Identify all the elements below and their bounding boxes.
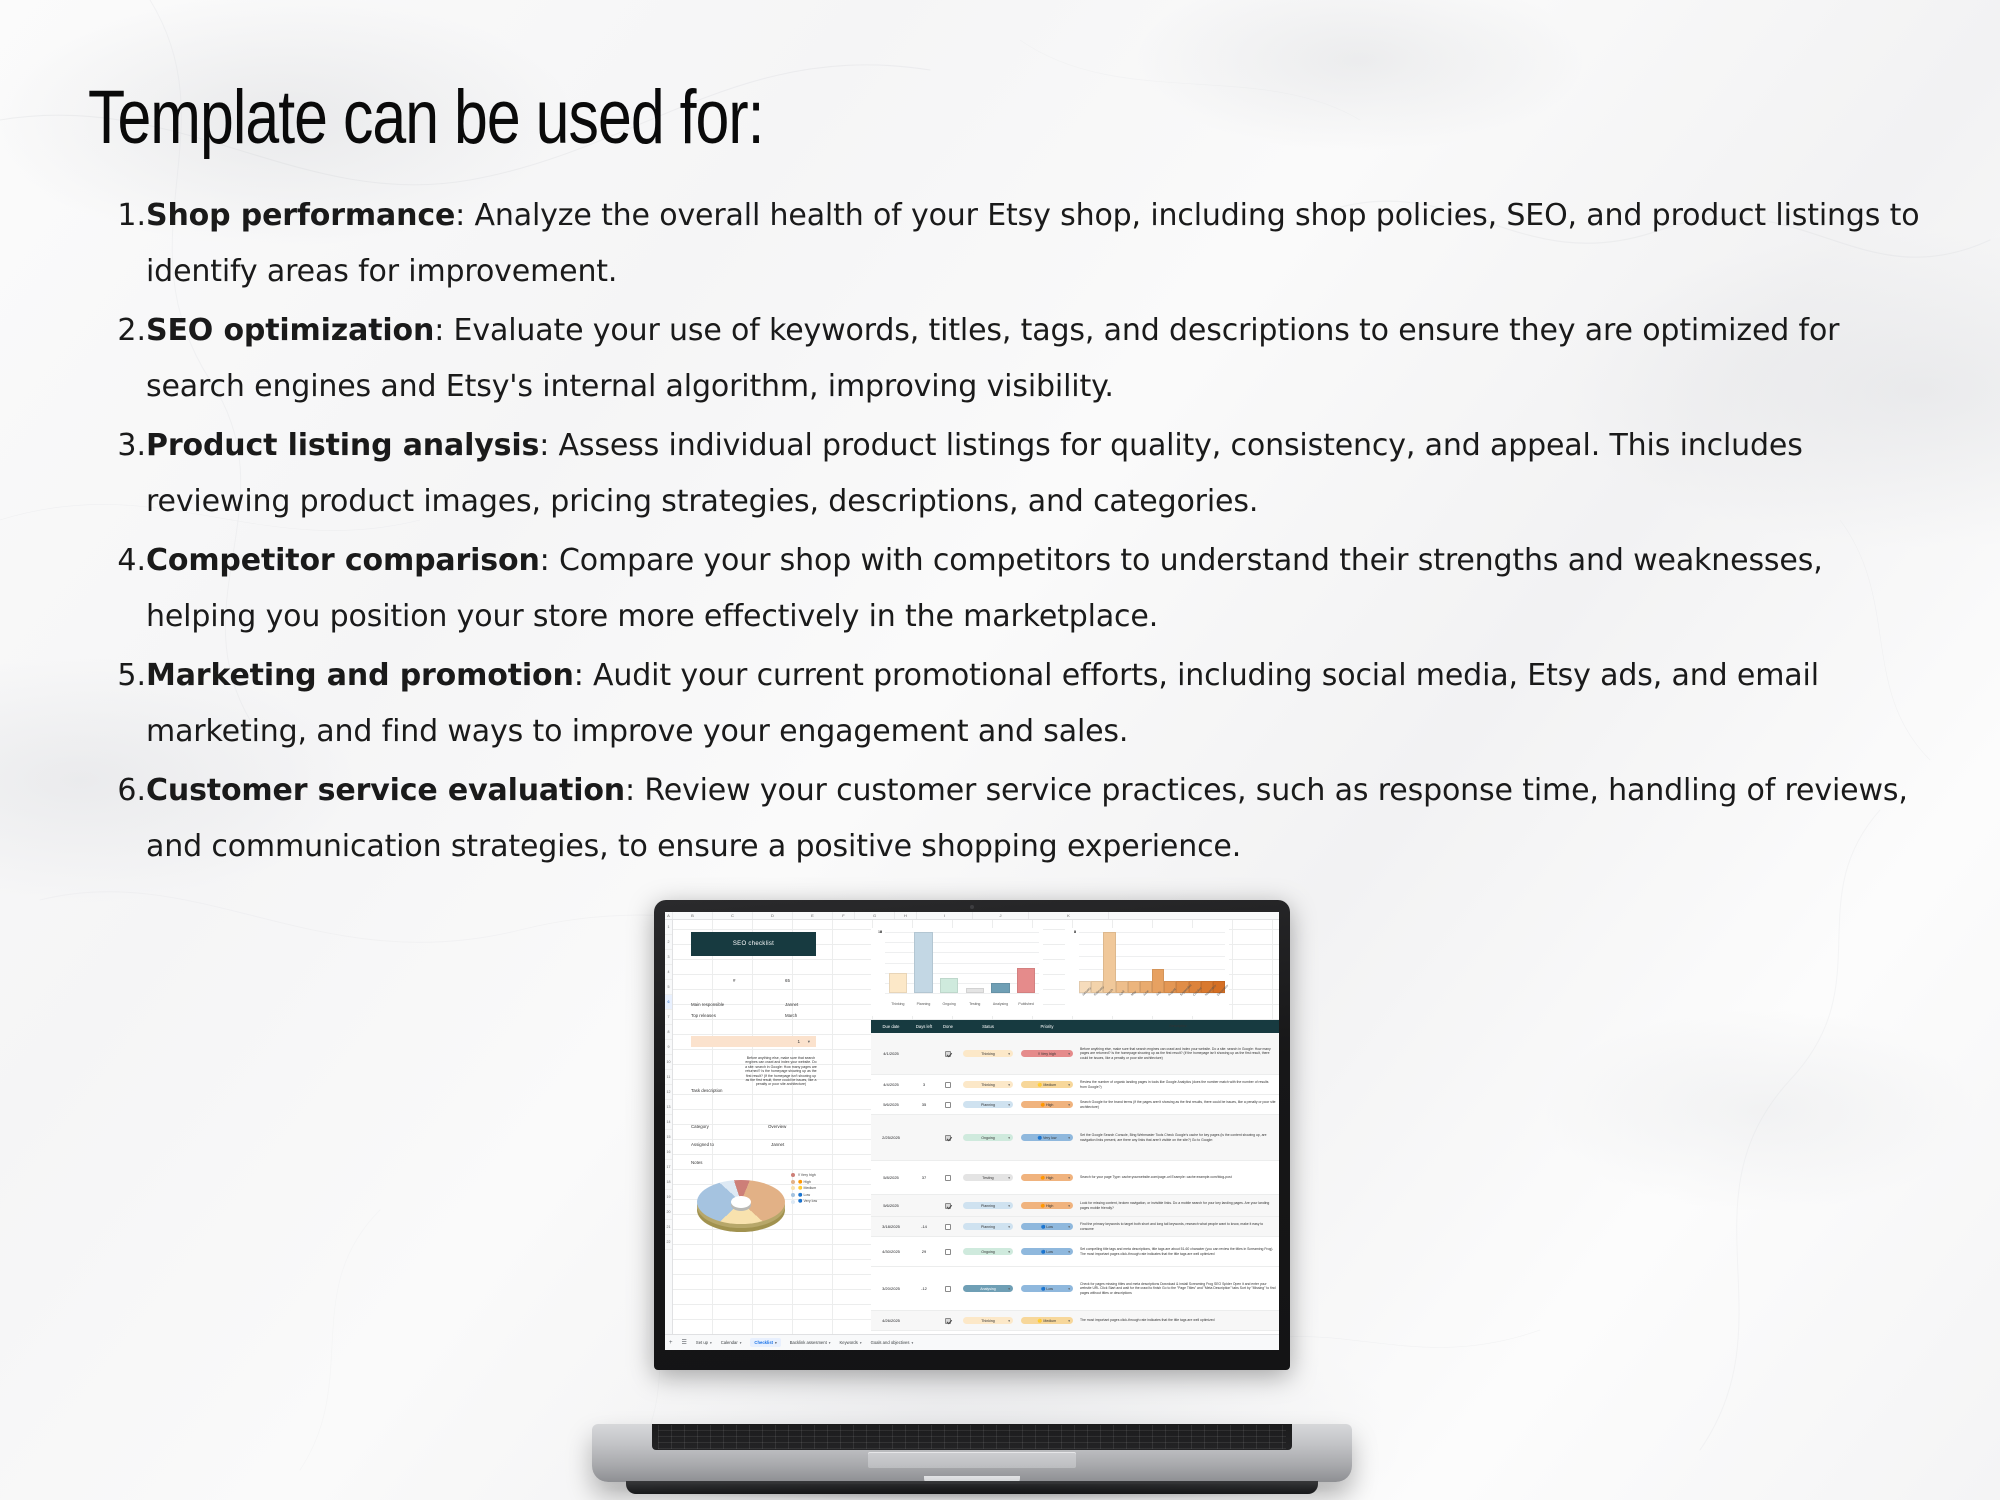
row-number-20[interactable]: 20 [665,1205,672,1220]
chevron-down-icon[interactable]: ▾ [710,1341,712,1345]
cell-status: Ongoing▾ [959,1248,1017,1255]
priority-badge[interactable]: 🟠 High▾ [1021,1174,1073,1181]
list-item-number: 6. [104,763,146,819]
legend-item-low: 🔵 Low [791,1192,817,1199]
done-checkbox[interactable] [945,1051,951,1057]
bar-published [1017,968,1035,993]
priority-badge[interactable]: 🟠 High▾ [1021,1202,1073,1209]
legend-item-very-low: 🔵 Very low [791,1198,817,1205]
priority-badge[interactable]: ‼ Very high▾ [1021,1050,1073,1057]
table-row[interactable]: 5/6/202535Planning▾🟠 High▾Search Google … [871,1095,1279,1115]
list-item-text: Competitor comparison: Compare your shop… [146,533,1938,645]
row-number-6[interactable]: 6 [665,995,672,1010]
row-number-17[interactable]: 17 [665,1160,672,1175]
row-number-21[interactable]: 21 [665,1220,672,1235]
field-label-top-releases: Top releases [691,1013,716,1018]
list-item: 3. Product listing analysis: Assess indi… [104,418,1938,530]
x-label-published: Published [1014,1002,1039,1006]
legend-swatch-icon [791,1180,795,1184]
bar-march [1103,932,1115,993]
list-item: 1. Shop performance: Analyze the overall… [104,188,1938,300]
legend-swatch-icon [791,1186,795,1190]
chevron-down-icon[interactable]: ▾ [1068,1250,1070,1254]
cell-description: Review the number of organic landing pag… [1077,1078,1279,1091]
list-item-lead: Shop performance [146,198,455,233]
detail-label-notes: Notes [691,1160,702,1165]
x-label-planning: Planning [911,1002,936,1006]
status-badge[interactable]: Analysing▾ [963,1285,1013,1292]
chevron-down-icon[interactable]: ▾ [1068,1052,1070,1056]
status-bar-chart: 121086420 ThinkingPlanningOngoingTesting… [871,928,1043,1016]
cell-status: Planning▾ [959,1101,1017,1108]
chevron-down-icon[interactable]: ▾ [911,1341,913,1345]
cell-due-date: 4/26/2025 [871,1318,911,1323]
list-item: 2. SEO optimization: Evaluate your use o… [104,303,1938,415]
chevron-down-icon[interactable]: ▾ [1008,1052,1010,1056]
bar-analysing [991,983,1009,993]
sheet-tab-set-up[interactable]: Set up▾ [696,1340,712,1345]
sheet-canvas: SEO checklist # 65 Main responsible Jann… [673,920,1279,1334]
donut-hole [731,1196,751,1208]
laptop-mockup: ABCDEFGHIJK 1234567891011121314151617181… [592,900,1352,1500]
sheet-tab-label: Goals and objectives [871,1340,910,1345]
done-checkbox[interactable] [945,1135,951,1141]
cell-priority: 🔵 Low▾ [1017,1285,1077,1292]
cell-description: Find the primary keywords to target both… [1077,1220,1279,1233]
list-item: 6. Customer service evaluation: Review y… [104,763,1938,875]
monthly-bar-chart: 543210 JanuaryFebruaryMarchAprilMayJuneJ… [1065,928,1229,1016]
y-tick-0: 0 [1074,930,1076,934]
chevron-down-icon[interactable]: ▾ [1008,1204,1010,1208]
row-number-12[interactable]: 12 [665,1085,672,1100]
bar-ongoing [940,978,958,993]
chevron-down-icon[interactable]: ▾ [1068,1225,1070,1229]
done-checkbox[interactable] [945,1102,951,1108]
legend-label: ‼ Very high [798,1172,816,1179]
done-checkbox[interactable] [945,1082,951,1088]
table-row[interactable]: 3/20/2025-12Analysing▾🔵 Low▾Check for pa… [871,1267,1279,1311]
status-badge[interactable]: Ongoing▾ [963,1134,1013,1141]
legend-swatch-icon [791,1200,795,1204]
cell-due-date: 5/6/2025 [871,1102,911,1107]
row-number-1[interactable]: 1 [665,920,672,935]
cell-done [937,1224,959,1230]
row-number-7[interactable]: 7 [665,1010,672,1025]
hash-value: 65 [785,978,790,983]
row-number-14[interactable]: 14 [665,1115,672,1130]
cell-status: Planning▾ [959,1202,1017,1209]
table-row[interactable]: 5/8/202537Testing▾🟠 High▾Search for your… [871,1161,1279,1195]
laptop-screen: ABCDEFGHIJK 1234567891011121314151617181… [665,912,1279,1350]
table-header-done[interactable]: Done [937,1024,959,1029]
row-number-13[interactable]: 13 [665,1100,672,1115]
cell-done [937,1175,959,1181]
row-number-4[interactable]: 4 [665,965,672,980]
detail-label-assigned-to: Assigned to [691,1142,714,1147]
cell-status: Testing▾ [959,1174,1017,1181]
column-header-j[interactable]: J [973,912,1029,919]
chevron-down-icon[interactable]: ▾ [1008,1136,1010,1140]
chevron-down-icon[interactable]: ▾ [1068,1319,1070,1323]
table-row[interactable]: 3/18/2025-14Planning▾🔵 Low▾Find the prim… [871,1217,1279,1237]
chevron-down-icon[interactable]: ▾ [1068,1176,1070,1180]
chevron-down-icon[interactable]: ▾ [740,1341,742,1345]
row-selector-number: 1 [797,1036,800,1047]
cell-description: The most important pages click-through r… [1077,1316,1279,1324]
cell-days-left: -12 [911,1286,937,1291]
legend-label: 🟠 High [798,1179,811,1186]
table-header-description[interactable]: Description [1077,1022,1279,1030]
list-item-text: SEO optimization: Evaluate your use of k… [146,303,1938,415]
all-sheets-icon[interactable]: ☰ [682,1339,687,1346]
priority-badge[interactable]: 🔵 Very low▾ [1021,1134,1073,1141]
cell-priority: 🔵 Low▾ [1017,1248,1077,1255]
field-label-main-responsible: Main responsible [691,1002,724,1007]
sheet-grid: 12345678910111213141516171819202122 SEO … [665,920,1279,1334]
donut-legend: ‼ Very high🟠 High🟡 Medium🔵 Low🔵 Very low [791,1172,817,1205]
list-item-lead: Product listing analysis [146,428,539,463]
laptop-lid: ABCDEFGHIJK 1234567891011121314151617181… [654,900,1290,1370]
cell-status: Planning▾ [959,1223,1017,1230]
status-badge[interactable]: Planning▾ [963,1223,1013,1230]
list-item-lead: Competitor comparison [146,543,540,578]
x-label-thinking: Thinking [886,1002,911,1006]
webcam-icon [970,905,974,909]
chevron-down-icon[interactable]: ▾ [1068,1083,1070,1087]
cell-description: Before anything else, make sure that sea… [1077,1045,1279,1062]
cell-priority: ‼ Very high▾ [1017,1050,1077,1057]
cell-days-left: 35 [911,1102,937,1107]
laptop-base [592,1424,1352,1482]
row-number-8[interactable]: 8 [665,1025,672,1040]
bar-thinking [889,973,907,993]
cell-done [937,1082,959,1088]
list-item-number: 1. [104,188,146,244]
chevron-down-icon[interactable]: ▾ [1008,1176,1010,1180]
task-table: Due dateDays leftDoneStatusPriorityDescr… [871,1020,1279,1334]
done-checkbox[interactable] [945,1318,951,1324]
sheet-title-cell: SEO checklist [691,932,816,956]
cell-done [937,1102,959,1108]
cell-priority: 🟡 Medium▾ [1017,1317,1077,1324]
cell-due-date: 3/18/2025 [871,1224,911,1229]
legend-item-very-high: ‼ Very high [791,1172,817,1179]
cell-status: Ongoing▾ [959,1134,1017,1141]
detail-value-category: Overview [768,1124,786,1129]
bar-testing [966,988,984,993]
cell-priority: 🟠 High▾ [1017,1174,1077,1181]
sheet-tab-label: Calendar [721,1340,738,1345]
row-number-10[interactable]: 10 [665,1055,672,1070]
chevron-down-icon[interactable]: ▾ [1008,1225,1010,1229]
cell-description: Set compelling title tags and meta descr… [1077,1245,1279,1258]
cell-description: Search for your page Type: cache:yourweb… [1077,1173,1279,1181]
status-chart-plot [885,932,1039,994]
chevron-down-icon[interactable]: ▾ [808,1036,810,1047]
hash-label: # [733,978,735,983]
bar-planning [914,932,932,993]
cell-due-date: 2/25/2025 [871,1135,911,1140]
list-item-number: 5. [104,648,146,704]
column-header-f[interactable]: F [833,912,855,919]
status-badge[interactable]: Thinking▾ [963,1081,1013,1088]
cell-done [937,1203,959,1209]
task-table-body: 4/1/2025Thinking▾‼ Very high▾Before anyt… [871,1033,1279,1331]
monthly-chart-bars [1079,932,1225,993]
status-badge[interactable]: Thinking▾ [963,1317,1013,1324]
chevron-down-icon[interactable]: ▾ [1068,1204,1070,1208]
benefits-list: 1. Shop performance: Analyze the overall… [104,188,1938,878]
row-number-18[interactable]: 18 [665,1175,672,1190]
legend-item-medium: 🟡 Medium [791,1185,817,1192]
list-item-text: Marketing and promotion: Audit your curr… [146,648,1938,760]
cell-done [937,1318,959,1324]
legend-item-high: 🟠 High [791,1179,817,1186]
priority-badge[interactable]: 🔵 Low▾ [1021,1223,1073,1230]
status-badge[interactable]: Planning▾ [963,1101,1013,1108]
cell-days-left: 29 [911,1249,937,1254]
detail-label-category: Category [691,1124,709,1129]
cell-due-date: 5/8/2025 [871,1175,911,1180]
cell-due-date: 4/1/2025 [871,1051,911,1056]
legend-label: 🔵 Very low [798,1198,817,1205]
chevron-down-icon[interactable]: ▾ [1008,1319,1010,1323]
sheet-tab-label: Backlink assesment [790,1340,827,1345]
cell-done [937,1135,959,1141]
row-number-9[interactable]: 9 [665,1040,672,1055]
field-value-main-responsible: Jannet [785,1002,798,1007]
row-number-22[interactable]: 22 [665,1235,672,1250]
detail-value-task-description: Before anything else, make sure that sea… [745,1056,817,1087]
cell-priority: 🔵 Low▾ [1017,1223,1077,1230]
field-value-top-releases: March [785,1013,797,1018]
list-item: 4. Competitor comparison: Compare your s… [104,533,1938,645]
sheet-tab-calendar[interactable]: Calendar▾ [721,1340,742,1345]
detail-value-assigned-to: Jannet [771,1142,784,1147]
list-item-lead: Customer service evaluation [146,773,625,808]
cell-due-date: 4/30/2025 [871,1249,911,1254]
done-checkbox[interactable] [945,1249,951,1255]
table-row[interactable]: 4/26/2025Thinking▾🟡 Medium▾The most impo… [871,1311,1279,1331]
cell-due-date: 4/4/2025 [871,1082,911,1087]
sheet-tab-goals-and-objectives[interactable]: Goals and objectives▾ [871,1340,914,1345]
sheet-tab-bar: + ☰ Set up▾Calendar▾Checklist▾Backlink a… [665,1334,1279,1350]
row-selector[interactable]: 1 ▾ [691,1036,816,1047]
legend-swatch-icon [791,1193,795,1197]
cell-days-left: 3 [911,1082,937,1087]
chevron-down-icon[interactable]: ▾ [860,1341,862,1345]
table-row[interactable]: 5/6/2025Planning▾🟠 High▾Look for missing… [871,1195,1279,1217]
list-item-number: 3. [104,418,146,474]
sheet-tab-backlink-assesment[interactable]: Backlink assesment▾ [790,1340,831,1345]
done-checkbox[interactable] [945,1286,951,1292]
status-badge[interactable]: Ongoing▾ [963,1248,1013,1255]
cell-priority: 🟠 High▾ [1017,1101,1077,1108]
chevron-down-icon[interactable]: ▾ [1068,1136,1070,1140]
cell-due-date: 5/6/2025 [871,1203,911,1208]
status-chart-bars [885,932,1039,993]
column-header-c[interactable]: C [713,912,753,919]
cell-description: Check for pages missing titles and meta … [1077,1280,1279,1297]
chevron-down-icon[interactable]: ▾ [1008,1103,1010,1107]
legend-swatch-icon [791,1173,795,1177]
priority-badge[interactable]: 🟡 Medium▾ [1021,1317,1073,1324]
y-tick-0: 0 [880,930,882,934]
cell-due-date: 3/20/2025 [871,1286,911,1291]
sheet-tab-checklist[interactable]: Checklist▾ [750,1338,780,1347]
chevron-down-icon[interactable]: ▾ [1008,1287,1010,1291]
table-header-days-left[interactable]: Days left [911,1024,937,1029]
table-header-due-date[interactable]: Due date [871,1024,911,1029]
list-item-number: 2. [104,303,146,359]
sheet-tab-label: Checklist [754,1340,773,1345]
chevron-down-icon[interactable]: ▾ [1068,1287,1070,1291]
sheet-tab-label: Keywords [839,1340,857,1345]
row-number-gutter: 12345678910111213141516171819202122 [665,920,673,1334]
status-badge[interactable]: Planning▾ [963,1202,1013,1209]
column-header-e[interactable]: E [793,912,833,919]
chevron-down-icon[interactable]: ▾ [1008,1083,1010,1087]
cell-status: Analysing▾ [959,1285,1017,1292]
chevron-down-icon[interactable]: ▾ [1008,1250,1010,1254]
priority-badge[interactable]: 🔵 Low▾ [1021,1285,1073,1292]
task-table-header: Due dateDays leftDoneStatusPriorityDescr… [871,1020,1279,1033]
column-header-row: ABCDEFGHIJK [665,912,1279,920]
page-title: Template can be used for: [88,82,764,155]
cell-status: Thinking▾ [959,1050,1017,1057]
cell-done [937,1249,959,1255]
table-row[interactable]: 4/4/20253Thinking▾🟡 Medium▾Review the nu… [871,1075,1279,1095]
list-item-lead: SEO optimization [146,313,434,348]
table-row[interactable]: 4/30/202529Ongoing▾🔵 Low▾Set compelling … [871,1237,1279,1267]
status-chart-x-labels: ThinkingPlanningOngoingTestingAnalysingP… [885,1002,1039,1006]
x-label-testing: Testing [962,1002,987,1006]
table-row[interactable]: 4/1/2025Thinking▾‼ Very high▾Before anyt… [871,1033,1279,1075]
chevron-down-icon[interactable]: ▾ [775,1341,777,1345]
laptop-shadow [602,1484,1342,1500]
column-header-b[interactable]: B [673,912,713,919]
done-checkbox[interactable] [945,1203,951,1209]
gridline [885,993,1039,994]
list-item: 5. Marketing and promotion: Audit your c… [104,648,1938,760]
priority-badge[interactable]: 🟡 Medium▾ [1021,1081,1073,1088]
cell-description: Set the Google Search Console, Bing Webm… [1077,1131,1279,1144]
list-item-lead: Marketing and promotion [146,658,574,693]
sheet-tab-keywords[interactable]: Keywords▾ [839,1340,861,1345]
sheet-tab-label: Set up [696,1340,708,1345]
table-header-status[interactable]: Status [959,1024,1017,1029]
add-sheet-icon[interactable]: + [669,1340,673,1346]
keyboard [658,1425,1286,1449]
legend-label: 🔵 Low [798,1192,810,1199]
x-label-analysing: Analysing [988,1002,1013,1006]
column-header-h[interactable]: H [895,912,917,919]
cell-days-left: -14 [911,1224,937,1229]
row-number-11[interactable]: 11 [665,1070,672,1085]
table-row[interactable]: 2/25/2025Ongoing▾🔵 Very low▾Set the Goog… [871,1115,1279,1161]
table-header-priority[interactable]: Priority [1017,1024,1077,1029]
laptop-brand [654,1351,1290,1367]
list-item-text: Customer service evaluation: Review your… [146,763,1938,875]
chevron-down-icon[interactable]: ▾ [829,1341,831,1345]
priority-badge[interactable]: 🔵 Low▾ [1021,1248,1073,1255]
cell-status: Thinking▾ [959,1317,1017,1324]
list-item-number: 4. [104,533,146,589]
cell-priority: 🟡 Medium▾ [1017,1081,1077,1088]
chevron-down-icon[interactable]: ▾ [1068,1103,1070,1107]
cell-days-left: 37 [911,1175,937,1180]
x-label-ongoing: Ongoing [937,1002,962,1006]
column-header-g[interactable]: G [855,912,895,919]
row-number-3[interactable]: 3 [665,950,672,965]
legend-label: 🟡 Medium [798,1185,816,1192]
cell-priority: 🔵 Very low▾ [1017,1134,1077,1141]
done-checkbox[interactable] [945,1224,951,1230]
row-number-5[interactable]: 5 [665,980,672,995]
monthly-chart-x-labels: JanuaryFebruaryMarchAprilMayJuneJulyAugu… [1079,994,1227,1016]
priority-donut-chart [695,1172,787,1232]
row-number-15[interactable]: 15 [665,1130,672,1145]
trackpad [868,1452,1076,1468]
priority-badge[interactable]: 🟠 High▾ [1021,1101,1073,1108]
status-badge[interactable]: Testing▾ [963,1174,1013,1181]
status-badge[interactable]: Thinking▾ [963,1050,1013,1057]
row-number-19[interactable]: 19 [665,1190,672,1205]
spreadsheet-app: ABCDEFGHIJK 1234567891011121314151617181… [665,912,1279,1350]
column-header-a[interactable]: A [665,912,673,919]
cell-done [937,1051,959,1057]
column-header-k[interactable]: K [1029,912,1109,919]
list-item-text: Shop performance: Analyze the overall he… [146,188,1938,300]
detail-label-task-description: Task description [691,1088,722,1093]
cell-done [937,1286,959,1292]
cell-description: Search Google for the brand terms (if th… [1077,1098,1279,1111]
cell-description: Look for missing content, broken navigat… [1077,1199,1279,1212]
cell-status: Thinking▾ [959,1081,1017,1088]
column-header-d[interactable]: D [753,912,793,919]
column-header-i[interactable]: I [917,912,973,919]
row-number-2[interactable]: 2 [665,935,672,950]
list-item-text: Product listing analysis: Assess individ… [146,418,1938,530]
cell-priority: 🟠 High▾ [1017,1202,1077,1209]
sheet-tabs: Set up▾Calendar▾Checklist▾Backlink asses… [696,1338,913,1347]
done-checkbox[interactable] [945,1175,951,1181]
row-number-16[interactable]: 16 [665,1145,672,1160]
